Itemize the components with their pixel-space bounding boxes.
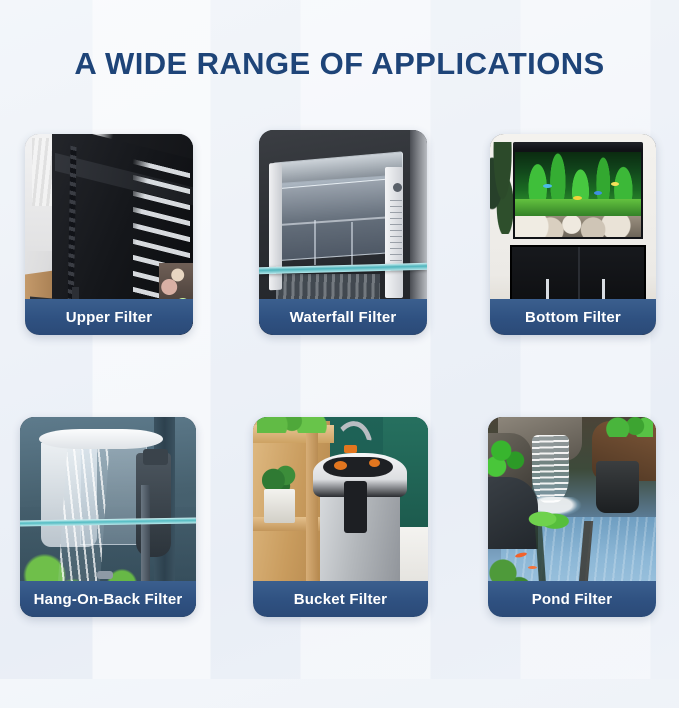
applications-grid: Upper Filter Waterfall Filter [0, 128, 679, 708]
application-card-hang-on-back-filter[interactable]: Hang-On-Back Filter [20, 417, 196, 617]
application-card-waterfall-filter[interactable]: Waterfall Filter [259, 130, 427, 335]
card-label-upper-filter: Upper Filter [25, 299, 193, 335]
application-card-bucket-filter[interactable]: Bucket Filter [253, 417, 428, 617]
application-card-upper-filter[interactable]: Upper Filter [25, 134, 193, 335]
card-label-bottom-filter: Bottom Filter [490, 299, 656, 335]
card-label-hang-on-back-filter: Hang-On-Back Filter [20, 581, 196, 617]
card-label-pond-filter: Pond Filter [488, 581, 656, 617]
card-label-waterfall-filter: Waterfall Filter [259, 299, 427, 335]
application-card-pond-filter[interactable]: Pond Filter [488, 417, 656, 617]
page-title: A WIDE RANGE OF APPLICATIONS [0, 46, 679, 82]
applications-row-2: Hang-On-Back Filter [0, 418, 679, 708]
card-label-bucket-filter: Bucket Filter [253, 581, 428, 617]
application-card-bottom-filter[interactable]: Bottom Filter [490, 134, 656, 335]
applications-row-1: Upper Filter Waterfall Filter [0, 128, 679, 418]
